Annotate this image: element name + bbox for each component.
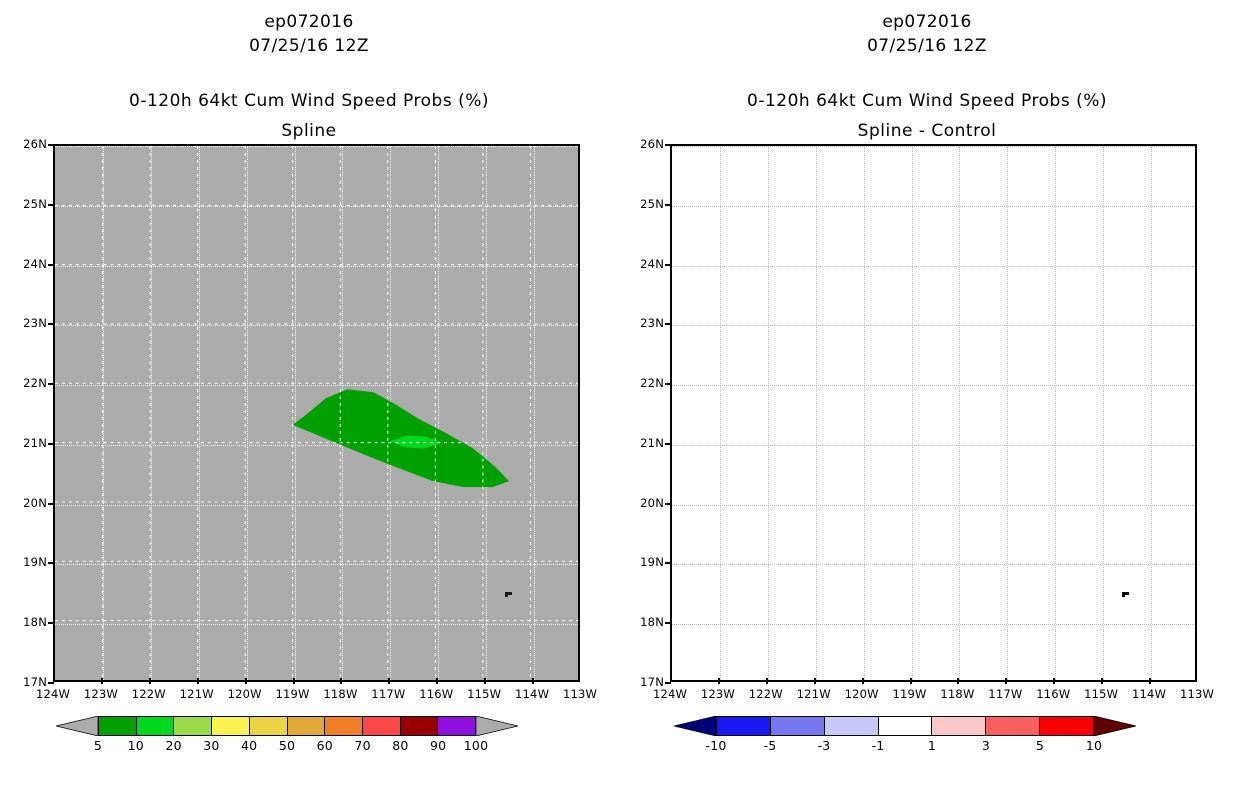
x-axis-tick-label: 124W (643, 687, 697, 701)
y-axis-tick-mark (48, 204, 54, 206)
colorbar-high-cap-right (1094, 716, 1136, 736)
y-axis-tick-mark (665, 622, 671, 624)
x-axis-tick-label: 123W (691, 687, 745, 701)
colorbar-band-0[interactable] (717, 717, 770, 735)
y-axis-tick-label: 19N (1, 555, 47, 569)
y-axis-tick-label: 25N (1, 197, 47, 211)
y-axis-tick-mark (48, 383, 54, 385)
colorbar-band-7[interactable] (362, 717, 400, 735)
x-axis-tick-label: 116W (1026, 687, 1080, 701)
x-axis-tick-mark (388, 678, 390, 684)
y-axis-tick-mark (48, 144, 54, 146)
x-axis-tick-mark (293, 678, 295, 684)
x-axis-tick-label: 118W (930, 687, 984, 701)
x-axis-tick-label: 117W (361, 687, 415, 701)
gridline-lat (672, 564, 1195, 565)
y-axis-tick-mark (48, 682, 54, 684)
x-axis-tick-label: 120W (218, 687, 272, 701)
x-axis-tick-label: 122W (122, 687, 176, 701)
x-axis-tick-mark (718, 678, 720, 684)
x-axis-tick-mark (957, 678, 959, 684)
panel-spline: ep072016 07/25/16 12Z 0-120h 64kt Cum Wi… (0, 0, 618, 800)
y-axis-tick-label: 20N (618, 496, 664, 510)
colorbar-tick-label: 60 (305, 738, 345, 753)
x-axis-tick-label: 121W (787, 687, 841, 701)
x-axis-tick-label: 120W (835, 687, 889, 701)
gridline-lon (959, 146, 960, 680)
colorbar-tick-label: 80 (380, 738, 420, 753)
y-axis-tick-mark (665, 144, 671, 146)
x-axis-tick-mark (245, 678, 247, 684)
colorbar-band-4[interactable] (931, 717, 985, 735)
y-axis-tick-label: 20N (1, 496, 47, 510)
colorbar-tick-label: 100 (456, 738, 496, 753)
colorbar-band-3[interactable] (211, 717, 249, 735)
gridline-lon (720, 146, 721, 680)
gridline-lon (768, 146, 769, 680)
main-title-right: 0-120h 64kt Cum Wind Speed Probs (%) (618, 91, 1236, 111)
x-axis-tick-label: 114W (505, 687, 559, 701)
colorbar-high-cap-left (476, 716, 518, 736)
colorbar-band-2[interactable] (824, 717, 878, 735)
y-axis-tick-label: 26N (1, 137, 47, 151)
land-marker-tail (1122, 595, 1125, 597)
y-axis-tick-label: 22N (618, 376, 664, 390)
colorbar-tick-label: 20 (154, 738, 194, 753)
y-axis-tick-label: 24N (1, 257, 47, 271)
valid-time-right: 07/25/16 12Z (618, 36, 1236, 56)
x-axis-tick-label: 117W (978, 687, 1032, 701)
gridline-lon (912, 146, 913, 680)
colorbar-tick-label: 90 (418, 738, 458, 753)
y-axis-tick-mark (665, 562, 671, 564)
colorbar-tick-label: -1 (858, 738, 898, 753)
y-axis-tick-mark (48, 503, 54, 505)
y-axis-tick-mark (665, 264, 671, 266)
colorbar-tick-label: -3 (804, 738, 844, 753)
colorbar-low-cap-left (56, 716, 98, 736)
x-axis-tick-label: 113W (1170, 687, 1224, 701)
gridline-lon (1151, 146, 1152, 680)
x-axis-tick-mark (1149, 678, 1151, 684)
x-axis-tick-mark (814, 678, 816, 684)
gridline-lat (672, 146, 1195, 147)
colorbar-band-1[interactable] (770, 717, 824, 735)
x-axis-tick-mark (910, 678, 912, 684)
gridline-lon (1007, 146, 1008, 680)
y-axis-tick-label: 19N (618, 555, 664, 569)
probability-contours (55, 146, 578, 680)
x-axis-tick-mark (862, 678, 864, 684)
x-axis-tick-label: 115W (457, 687, 511, 701)
x-axis-tick-label: 118W (313, 687, 367, 701)
x-axis-tick-label: 119W (266, 687, 320, 701)
storm-id-right: ep072016 (618, 12, 1236, 32)
x-axis-tick-label: 113W (553, 687, 607, 701)
y-axis-tick-label: 22N (1, 376, 47, 390)
y-axis-tick-mark (665, 323, 671, 325)
x-axis-tick-label: 124W (26, 687, 80, 701)
colorbar-labels-right: -10-5-3-113510 (716, 738, 1094, 758)
colorbar-tick-label: 5 (1020, 738, 1060, 753)
gridline-lat (672, 624, 1195, 625)
x-axis-tick-mark (197, 678, 199, 684)
x-axis-tick-mark (484, 678, 486, 684)
colorbar-band-1[interactable] (136, 717, 174, 735)
colorbar-band-2[interactable] (173, 717, 211, 735)
plot-grid-right (672, 146, 1195, 680)
difference-colorbar[interactable] (716, 716, 1094, 736)
map-plot-spline[interactable] (53, 144, 580, 682)
storm-id-left: ep072016 (0, 12, 618, 32)
map-plot-difference[interactable] (670, 144, 1197, 682)
main-title-left: 0-120h 64kt Cum Wind Speed Probs (%) (0, 91, 618, 111)
colorbar-band-9[interactable] (437, 717, 475, 735)
y-axis-tick-label: 21N (618, 436, 664, 450)
x-axis-tick-mark (436, 678, 438, 684)
colorbar-tick-label: 5 (78, 738, 118, 753)
colorbar-tick-label: 3 (966, 738, 1006, 753)
valid-time-left: 07/25/16 12Z (0, 36, 618, 56)
y-axis-tick-mark (665, 682, 671, 684)
y-axis-tick-mark (665, 383, 671, 385)
colorbar-tick-label: 1 (912, 738, 952, 753)
x-axis-tick-label: 121W (170, 687, 224, 701)
y-axis-tick-mark (48, 323, 54, 325)
x-axis-tick-label: 122W (739, 687, 793, 701)
colorbar-band-4[interactable] (249, 717, 287, 735)
colorbar-low-cap-right (674, 716, 716, 736)
gridline-lat (672, 266, 1195, 267)
colorbar-tick-label: 10 (116, 738, 156, 753)
colorbar-band-5[interactable] (985, 717, 1039, 735)
gridline-lon (1103, 146, 1104, 680)
y-axis-tick-label: 18N (618, 615, 664, 629)
colorbar-tick-label: -5 (750, 738, 790, 753)
gridline-lon (816, 146, 817, 680)
y-axis-tick-label: 21N (1, 436, 47, 450)
colorbar-tick-label: -10 (696, 738, 736, 753)
y-axis-tick-mark (48, 622, 54, 624)
y-axis-tick-mark (48, 264, 54, 266)
colorbar-band-6[interactable] (1039, 717, 1093, 735)
x-axis-tick-mark (149, 678, 151, 684)
colorbar-tick-label: 10 (1074, 738, 1114, 753)
y-axis-tick-label: 18N (1, 615, 47, 629)
subtitle-right: Spline - Control (618, 121, 1236, 141)
x-axis-tick-mark (1005, 678, 1007, 684)
y-axis-tick-label: 23N (1, 316, 47, 330)
x-axis-tick-label: 115W (1074, 687, 1128, 701)
subtitle-left: Spline (0, 121, 618, 141)
colorbar-tick-label: 30 (191, 738, 231, 753)
colorbar-tick-label: 70 (343, 738, 383, 753)
x-axis-tick-label: 116W (409, 687, 463, 701)
x-axis-tick-label: 114W (1122, 687, 1176, 701)
x-axis-tick-mark (101, 678, 103, 684)
colorbar-tick-label: 40 (229, 738, 269, 753)
y-axis-tick-label: 23N (618, 316, 664, 330)
colorbar-band-0[interactable] (99, 717, 136, 735)
gridline-lat (672, 385, 1195, 386)
x-axis-tick-mark (340, 678, 342, 684)
probability-colorbar[interactable] (98, 716, 476, 736)
y-axis-tick-mark (665, 443, 671, 445)
y-axis-tick-label: 25N (618, 197, 664, 211)
colorbar-band-5[interactable] (287, 717, 325, 735)
gridline-lon (864, 146, 865, 680)
x-axis-tick-mark (532, 678, 534, 684)
gridline-lat (672, 505, 1195, 506)
gridline-lat (672, 325, 1195, 326)
colorbar-tick-label: 50 (267, 738, 307, 753)
y-axis-tick-mark (48, 562, 54, 564)
y-axis-tick-mark (48, 443, 54, 445)
gridline-lat (672, 206, 1195, 207)
colorbar-band-3[interactable] (878, 717, 932, 735)
x-axis-tick-label: 123W (74, 687, 128, 701)
gridline-lon (1055, 146, 1056, 680)
x-axis-tick-mark (1101, 678, 1103, 684)
x-axis-tick-mark (766, 678, 768, 684)
x-axis-tick-mark (1053, 678, 1055, 684)
land-marker-tail (505, 595, 508, 597)
x-axis-tick-label: 119W (883, 687, 937, 701)
y-axis-tick-label: 24N (618, 257, 664, 271)
gridline-lat (672, 445, 1195, 446)
colorbar-band-8[interactable] (400, 717, 438, 735)
colorbar-labels-left: 5102030405060708090100 (98, 738, 476, 758)
y-axis-tick-mark (665, 204, 671, 206)
y-axis-tick-label: 26N (618, 137, 664, 151)
y-axis-tick-mark (665, 503, 671, 505)
colorbar-band-6[interactable] (324, 717, 362, 735)
